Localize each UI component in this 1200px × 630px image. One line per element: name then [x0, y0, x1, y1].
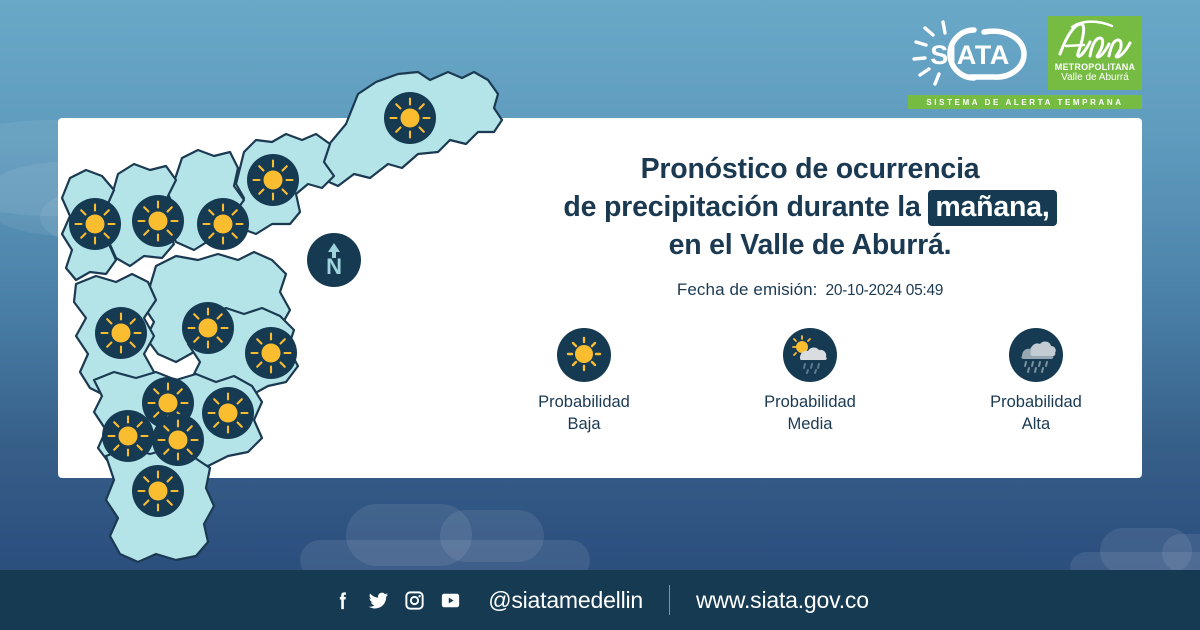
legend-label-alta: Probabilidad Alta: [990, 391, 1082, 435]
headline-highlight-period: mañana,: [928, 190, 1056, 226]
area-logo-line2: Valle de Aburrá: [1061, 72, 1129, 83]
legend-label-media: Probabilidad Media: [764, 391, 856, 435]
legend-baja-line2: Baja: [567, 415, 600, 433]
tagline-bar: SISTEMA DE ALERTA TEMPRANA: [908, 95, 1142, 109]
headline-line-1: Pronóstico de ocurrencia: [641, 153, 980, 185]
infographic-poster: SIATA METROPOLITANA Valle de Aburrá SIST…: [0, 0, 1200, 630]
issue-date-value: 20-10-2024 05:49: [826, 282, 944, 300]
area-metropolitana-logo: METROPOLITANA Valle de Aburrá: [1048, 16, 1142, 90]
headline-line-3: en el Valle de Aburrá.: [669, 229, 952, 261]
youtube-icon[interactable]: [439, 589, 462, 612]
cloud-rain-icon: [1009, 328, 1063, 382]
issue-date-row: Fecha de emisión: 20-10-2024 05:49: [500, 280, 1120, 300]
logo-group: SIATA METROPOLITANA Valle de Aburrá SIST…: [908, 16, 1142, 109]
area-logo-line1: METROPOLITANA: [1055, 62, 1135, 72]
legend-media-line1: Probabilidad: [764, 393, 856, 411]
logo-row: SIATA METROPOLITANA Valle de Aburrá: [908, 16, 1142, 90]
issue-date-label: Fecha de emisión:: [677, 280, 818, 300]
footer-divider: [669, 585, 670, 615]
twitter-icon[interactable]: [367, 589, 390, 612]
forecast-content: Pronóstico de ocurrencia de precipitació…: [500, 150, 1120, 435]
background-cloud-shape: [300, 500, 590, 580]
page-title: Pronóstico de ocurrencia de precipitació…: [500, 150, 1120, 264]
legend-alta-line2: Alta: [1022, 415, 1050, 433]
sun-rain-icon: [783, 328, 837, 382]
social-links[interactable]: [331, 589, 462, 612]
sun-icon: [557, 328, 611, 382]
headline-line-2-prefix: de precipitación durante la: [563, 191, 920, 223]
probability-legend: Probabilidad Baja: [500, 328, 1120, 435]
social-handle[interactable]: @siatamedellin: [488, 587, 643, 614]
legend-item-media: Probabilidad Media: [735, 328, 885, 435]
instagram-icon[interactable]: [403, 589, 426, 612]
facebook-icon[interactable]: [331, 589, 354, 612]
siata-logo: SIATA: [908, 16, 1036, 90]
svg-text:SIATA: SIATA: [930, 40, 1010, 70]
website-url[interactable]: www.siata.gov.co: [696, 587, 869, 614]
legend-baja-line1: Probabilidad: [538, 393, 630, 411]
legend-label-baja: Probabilidad Baja: [538, 391, 630, 435]
footer-bar: @siatamedellin www.siata.gov.co: [0, 570, 1200, 630]
legend-media-line2: Media: [788, 415, 833, 433]
legend-item-baja: Probabilidad Baja: [509, 328, 659, 435]
legend-item-alta: Probabilidad Alta: [961, 328, 1111, 435]
area-script-mark: [1054, 18, 1136, 62]
legend-alta-line1: Probabilidad: [990, 393, 1082, 411]
